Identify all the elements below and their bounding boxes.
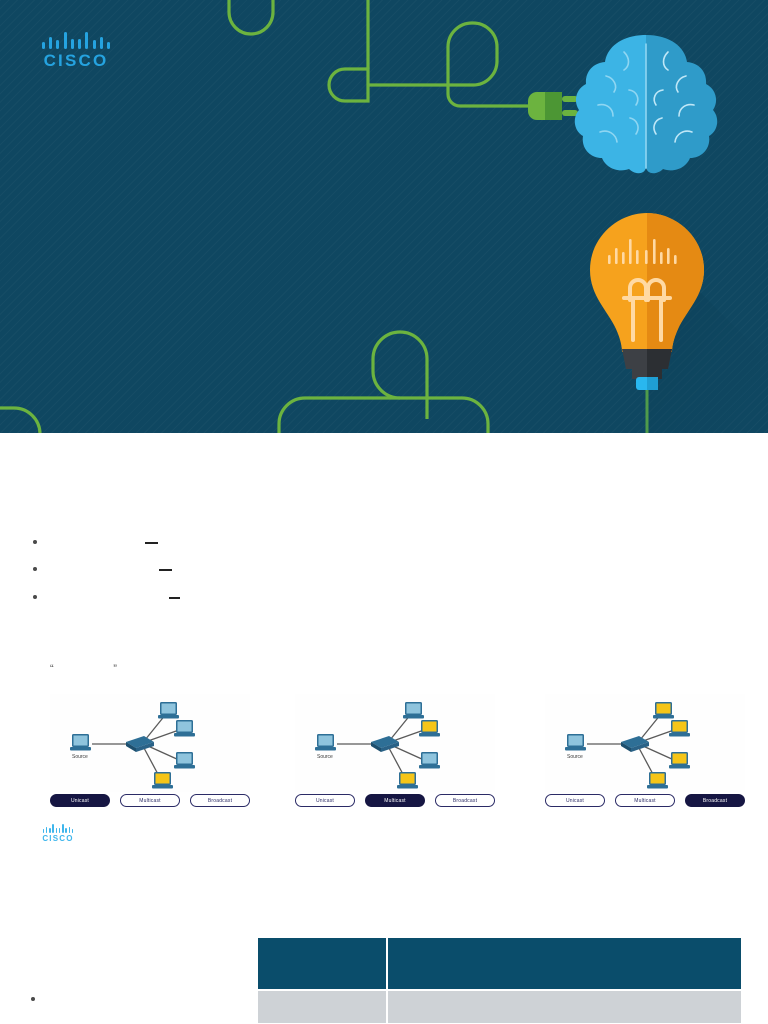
mode-button-broadcast[interactable]: Broadcast: [685, 794, 745, 807]
brain-icon: [575, 35, 717, 173]
source-host-icon: [315, 734, 336, 751]
mode-button-unicast[interactable]: Unicast: [295, 794, 355, 807]
diagram-broadcast[interactable]: Source Unicast Mu: [545, 694, 745, 814]
bullet-item-3: [33, 595, 49, 599]
host-icon-1-highlighted: [669, 720, 690, 737]
switch-icon: [126, 736, 154, 752]
diagram-unicast[interactable]: Source Unicast: [50, 694, 250, 814]
hero-banner: CISCO: [0, 0, 768, 433]
bullet-dash: [159, 569, 172, 571]
table-header-row: [257, 937, 742, 990]
table-cell-0-1: [387, 990, 742, 1024]
diagram-multicast[interactable]: Source Unicast Mu: [295, 694, 495, 814]
bullet-marker: [31, 997, 35, 1001]
host-icon-0: [403, 702, 424, 719]
green-cable-path-top: [229, 0, 528, 106]
cisco-logo: CISCO: [38, 32, 114, 74]
table-row: [257, 990, 742, 1024]
table-cell-0-0: [257, 990, 387, 1024]
host-icon-3-highlighted: [397, 772, 418, 789]
table-header-cell-0: [257, 937, 387, 990]
mode-button-multicast[interactable]: Multicast: [615, 794, 675, 807]
comparison-table: [257, 937, 742, 1024]
quote-open-mark: “: [50, 663, 54, 675]
cisco-bars-icon: [42, 32, 110, 49]
bullet-dash: [169, 597, 180, 599]
host-icon-1-highlighted: [419, 720, 440, 737]
svg-text:Source: Source: [567, 754, 583, 760]
plug-icon: [528, 92, 578, 120]
diagram-canvas: Source: [295, 694, 495, 792]
quote-close-mark: ”: [113, 663, 117, 675]
host-icon-3-highlighted: [647, 772, 668, 789]
cisco-wordmark: CISCO: [41, 834, 75, 844]
mode-button-multicast[interactable]: Multicast: [120, 794, 180, 807]
bullet-marker: [33, 595, 37, 599]
mode-button-broadcast[interactable]: Broadcast: [190, 794, 250, 807]
host-icon-2: [174, 752, 195, 769]
bullet-marker: [33, 567, 37, 571]
host-icon-0-highlighted: [653, 702, 674, 719]
switch-icon: [371, 736, 399, 752]
mode-button-unicast[interactable]: Unicast: [545, 794, 605, 807]
bullet-item-1: [33, 540, 49, 544]
mode-button-multicast[interactable]: Multicast: [365, 794, 425, 807]
quote-line: “ ”: [50, 663, 117, 675]
diagram-mode-buttons[interactable]: Unicast Multicast Broadcast: [545, 794, 745, 808]
diagram-mode-buttons[interactable]: Unicast Multicast Broadcast: [295, 794, 495, 808]
source-host-icon: [70, 734, 91, 751]
host-icon-3-highlighted: [152, 772, 173, 789]
diagram-mode-buttons[interactable]: Unicast Multicast Broadcast: [50, 794, 250, 808]
cisco-bars-icon: [43, 824, 74, 833]
table-header-cell-1: [387, 937, 742, 990]
host-icon-2: [419, 752, 440, 769]
hero-graphics: [0, 0, 768, 433]
host-icon-0: [158, 702, 179, 719]
switch-icon: [621, 736, 649, 752]
cisco-wordmark: CISCO: [38, 51, 114, 71]
green-cable-path-bottom: [0, 332, 488, 433]
diagram-canvas: Source: [545, 694, 745, 792]
mode-button-unicast[interactable]: Unicast: [50, 794, 110, 807]
bullet-dash: [145, 542, 158, 544]
bullet-item-bottom: [31, 997, 47, 1001]
cisco-logo-footer: CISCO: [41, 824, 75, 848]
bullet-item-2: [33, 567, 49, 571]
host-icon-2-highlighted: [669, 752, 690, 769]
host-icon-1: [174, 720, 195, 737]
source-host-icon: [565, 734, 586, 751]
bullet-marker: [33, 540, 37, 544]
svg-text:Source: Source: [317, 754, 333, 760]
mode-button-broadcast[interactable]: Broadcast: [435, 794, 495, 807]
diagram-canvas: Source: [50, 694, 250, 792]
svg-text:Source: Source: [72, 754, 88, 760]
